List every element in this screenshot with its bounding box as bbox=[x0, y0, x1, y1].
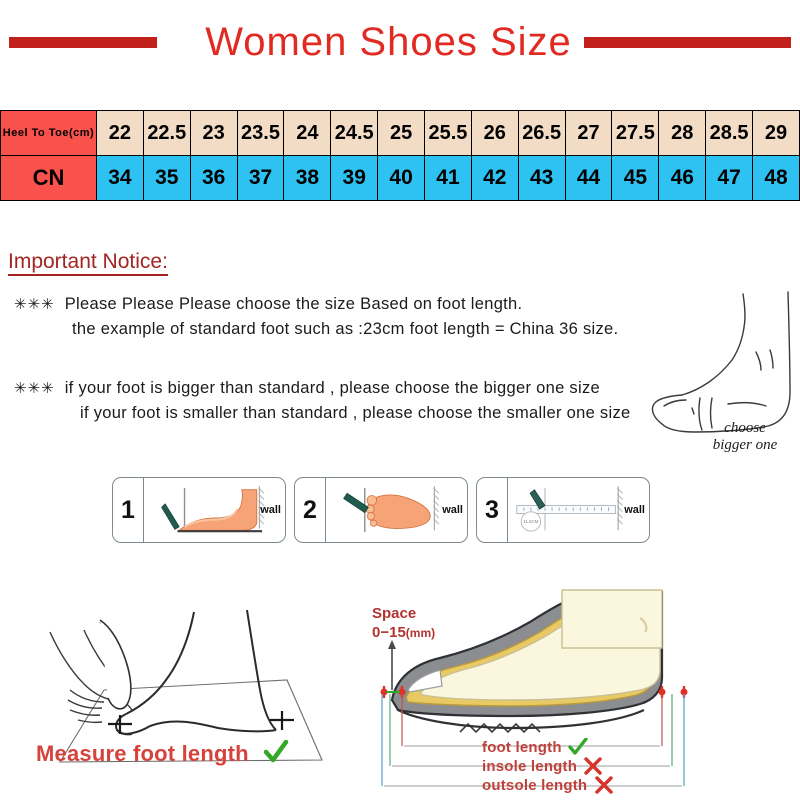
wall-label: wall bbox=[260, 504, 281, 516]
table-row-cn: CN 34 35 36 37 38 39 40 41 42 43 44 45 4… bbox=[1, 156, 800, 201]
cell-cm: 24 bbox=[284, 111, 331, 156]
cell-cn: 45 bbox=[612, 156, 659, 201]
cell-cn: 48 bbox=[753, 156, 800, 201]
step-3: 3 11.5CM bbox=[476, 477, 650, 543]
length-label-foot: foot length bbox=[482, 738, 732, 757]
cell-cm: 22 bbox=[97, 111, 144, 156]
length-label-text: foot length bbox=[482, 739, 562, 756]
cell-cn: 39 bbox=[331, 156, 378, 201]
cell-cn: 36 bbox=[190, 156, 237, 201]
wall-label: wall bbox=[624, 504, 645, 516]
cell-cm: 27.5 bbox=[612, 111, 659, 156]
space-label-unit: (mm) bbox=[406, 626, 435, 640]
asterisk-marker-icon: ✳✳✳ bbox=[14, 296, 55, 313]
asterisk-marker-icon: ✳✳✳ bbox=[14, 380, 55, 397]
cell-cm: 23 bbox=[190, 111, 237, 156]
notice-text: Please Please Please choose the size Bas… bbox=[65, 295, 523, 313]
page-title: Women Shoes Size bbox=[205, 20, 572, 65]
check-icon bbox=[263, 740, 289, 764]
cell-cn: 40 bbox=[378, 156, 425, 201]
cell-cn: 44 bbox=[565, 156, 612, 201]
cell-cn: 42 bbox=[471, 156, 518, 201]
cell-cn: 46 bbox=[659, 156, 706, 201]
length-label-text: outsole length bbox=[482, 777, 587, 794]
choose-line-1: choose bbox=[724, 420, 766, 436]
length-label-text: insole length bbox=[482, 758, 577, 775]
length-label-outsole: outsole length bbox=[482, 776, 732, 795]
space-label-line-2: 0−15 bbox=[372, 624, 406, 641]
cross-icon bbox=[583, 757, 603, 775]
notice-line: ✳✳✳Please Please Please choose the size … bbox=[14, 292, 618, 317]
cell-cm: 27 bbox=[565, 111, 612, 156]
step-2-illustration: wall bbox=[326, 478, 467, 542]
length-label-insole: insole length bbox=[482, 757, 732, 776]
step-1: 1 wall bbox=[112, 477, 286, 543]
space-label-line-1: Space bbox=[372, 605, 416, 622]
cell-cn: 37 bbox=[237, 156, 284, 201]
cell-cm: 28.5 bbox=[706, 111, 753, 156]
notice-line: ✳✳✳if your foot is bigger than standard … bbox=[14, 376, 630, 401]
measure-foot-caption: Measure foot length bbox=[36, 740, 289, 767]
notice-block-1: ✳✳✳Please Please Please choose the size … bbox=[14, 292, 618, 342]
cell-cm: 28 bbox=[659, 111, 706, 156]
row-header-cn: CN bbox=[1, 156, 97, 201]
wall-label: wall bbox=[442, 504, 463, 516]
cell-cm: 26 bbox=[471, 111, 518, 156]
step-2: 2 wall bbox=[294, 477, 468, 543]
size-chart-page: Women Shoes Size Heel To Toe(cm) 22 22.5… bbox=[0, 0, 800, 800]
check-icon bbox=[568, 738, 588, 756]
size-conversion-table: Heel To Toe(cm) 22 22.5 23 23.5 24 24.5 … bbox=[0, 110, 800, 201]
step-number: 2 bbox=[295, 478, 326, 542]
measurement-steps: 1 wall 2 bbox=[112, 477, 650, 543]
table-row-heel-to-toe: Heel To Toe(cm) 22 22.5 23 23.5 24 24.5 … bbox=[1, 111, 800, 156]
row-header-heel-to-toe: Heel To Toe(cm) bbox=[1, 111, 97, 156]
step-3-illustration: 11.5CM wall bbox=[508, 478, 649, 542]
notice-line: the example of standard foot such as :23… bbox=[14, 317, 618, 342]
step-1-illustration: wall bbox=[144, 478, 285, 542]
cell-cm: 22.5 bbox=[143, 111, 190, 156]
cell-cm: 25 bbox=[378, 111, 425, 156]
cell-cm: 29 bbox=[753, 111, 800, 156]
cell-cm: 26.5 bbox=[518, 111, 565, 156]
cell-cm: 25.5 bbox=[425, 111, 472, 156]
notice-block-2: ✳✳✳if your foot is bigger than standard … bbox=[14, 376, 630, 426]
page-title-band: Women Shoes Size bbox=[0, 18, 800, 66]
length-labels-group: foot length insole length outsole length bbox=[482, 738, 732, 795]
notice-text: if your foot is bigger than standard , p… bbox=[65, 379, 600, 397]
important-notice-heading: Important Notice: bbox=[8, 250, 168, 276]
choose-bigger-one-caption: choose bigger one bbox=[690, 420, 800, 454]
title-bar-left-icon bbox=[9, 37, 157, 48]
cell-cn: 47 bbox=[706, 156, 753, 201]
cell-cn: 34 bbox=[97, 156, 144, 201]
space-label: Space 0−15(mm) bbox=[372, 604, 435, 643]
cell-cm: 23.5 bbox=[237, 111, 284, 156]
cell-cn: 38 bbox=[284, 156, 331, 201]
step-number: 1 bbox=[113, 478, 144, 542]
ruler-badge-label: 11.5CM bbox=[523, 519, 538, 524]
cell-cm: 24.5 bbox=[331, 111, 378, 156]
step-number: 3 bbox=[477, 478, 508, 542]
cell-cn: 41 bbox=[425, 156, 472, 201]
title-bar-right-icon bbox=[584, 37, 791, 48]
cell-cn: 43 bbox=[518, 156, 565, 201]
cross-icon bbox=[594, 776, 614, 794]
measure-caption-text: Measure foot length bbox=[36, 741, 249, 766]
notice-line: if your foot is smaller than standard , … bbox=[14, 401, 630, 426]
cell-cn: 35 bbox=[143, 156, 190, 201]
choose-line-2: bigger one bbox=[713, 437, 778, 453]
